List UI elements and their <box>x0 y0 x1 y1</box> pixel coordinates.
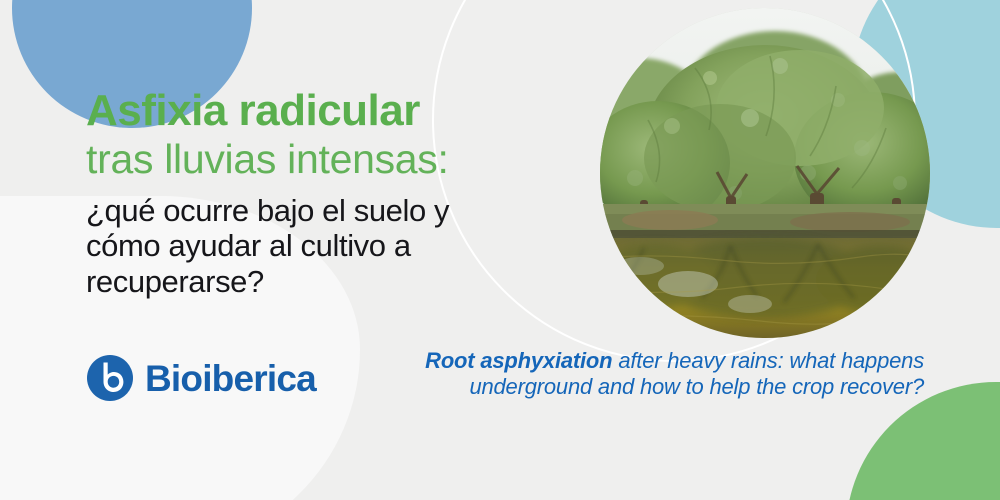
subtitle-block: ¿qué ocurre bajo el suelo y cómo ayudar … <box>86 193 606 301</box>
title-line-2: tras lluvias intensas: <box>86 137 606 183</box>
headline-block: Asfixia radicular tras lluvias intensas:… <box>86 88 606 300</box>
subtitle-line-2: cómo ayudar al cultivo a <box>86 228 606 264</box>
bioiberica-mark-icon <box>86 354 134 402</box>
english-caption: Root asphyxiation after heavy rains: wha… <box>404 348 924 401</box>
english-caption-bold: Root asphyxiation <box>425 348 612 373</box>
bioiberica-wordmark: Bioiberica <box>145 360 316 397</box>
bioiberica-logo[interactable]: Bioiberica <box>86 354 316 402</box>
promo-banner: Asfixia radicular tras lluvias intensas:… <box>0 0 1000 500</box>
orchard-flood-photo <box>600 8 930 338</box>
subtitle-line-3: recuperarse? <box>86 264 606 300</box>
title-line-1: Asfixia radicular <box>86 88 606 135</box>
subtitle-line-1: ¿qué ocurre bajo el suelo y <box>86 193 606 229</box>
